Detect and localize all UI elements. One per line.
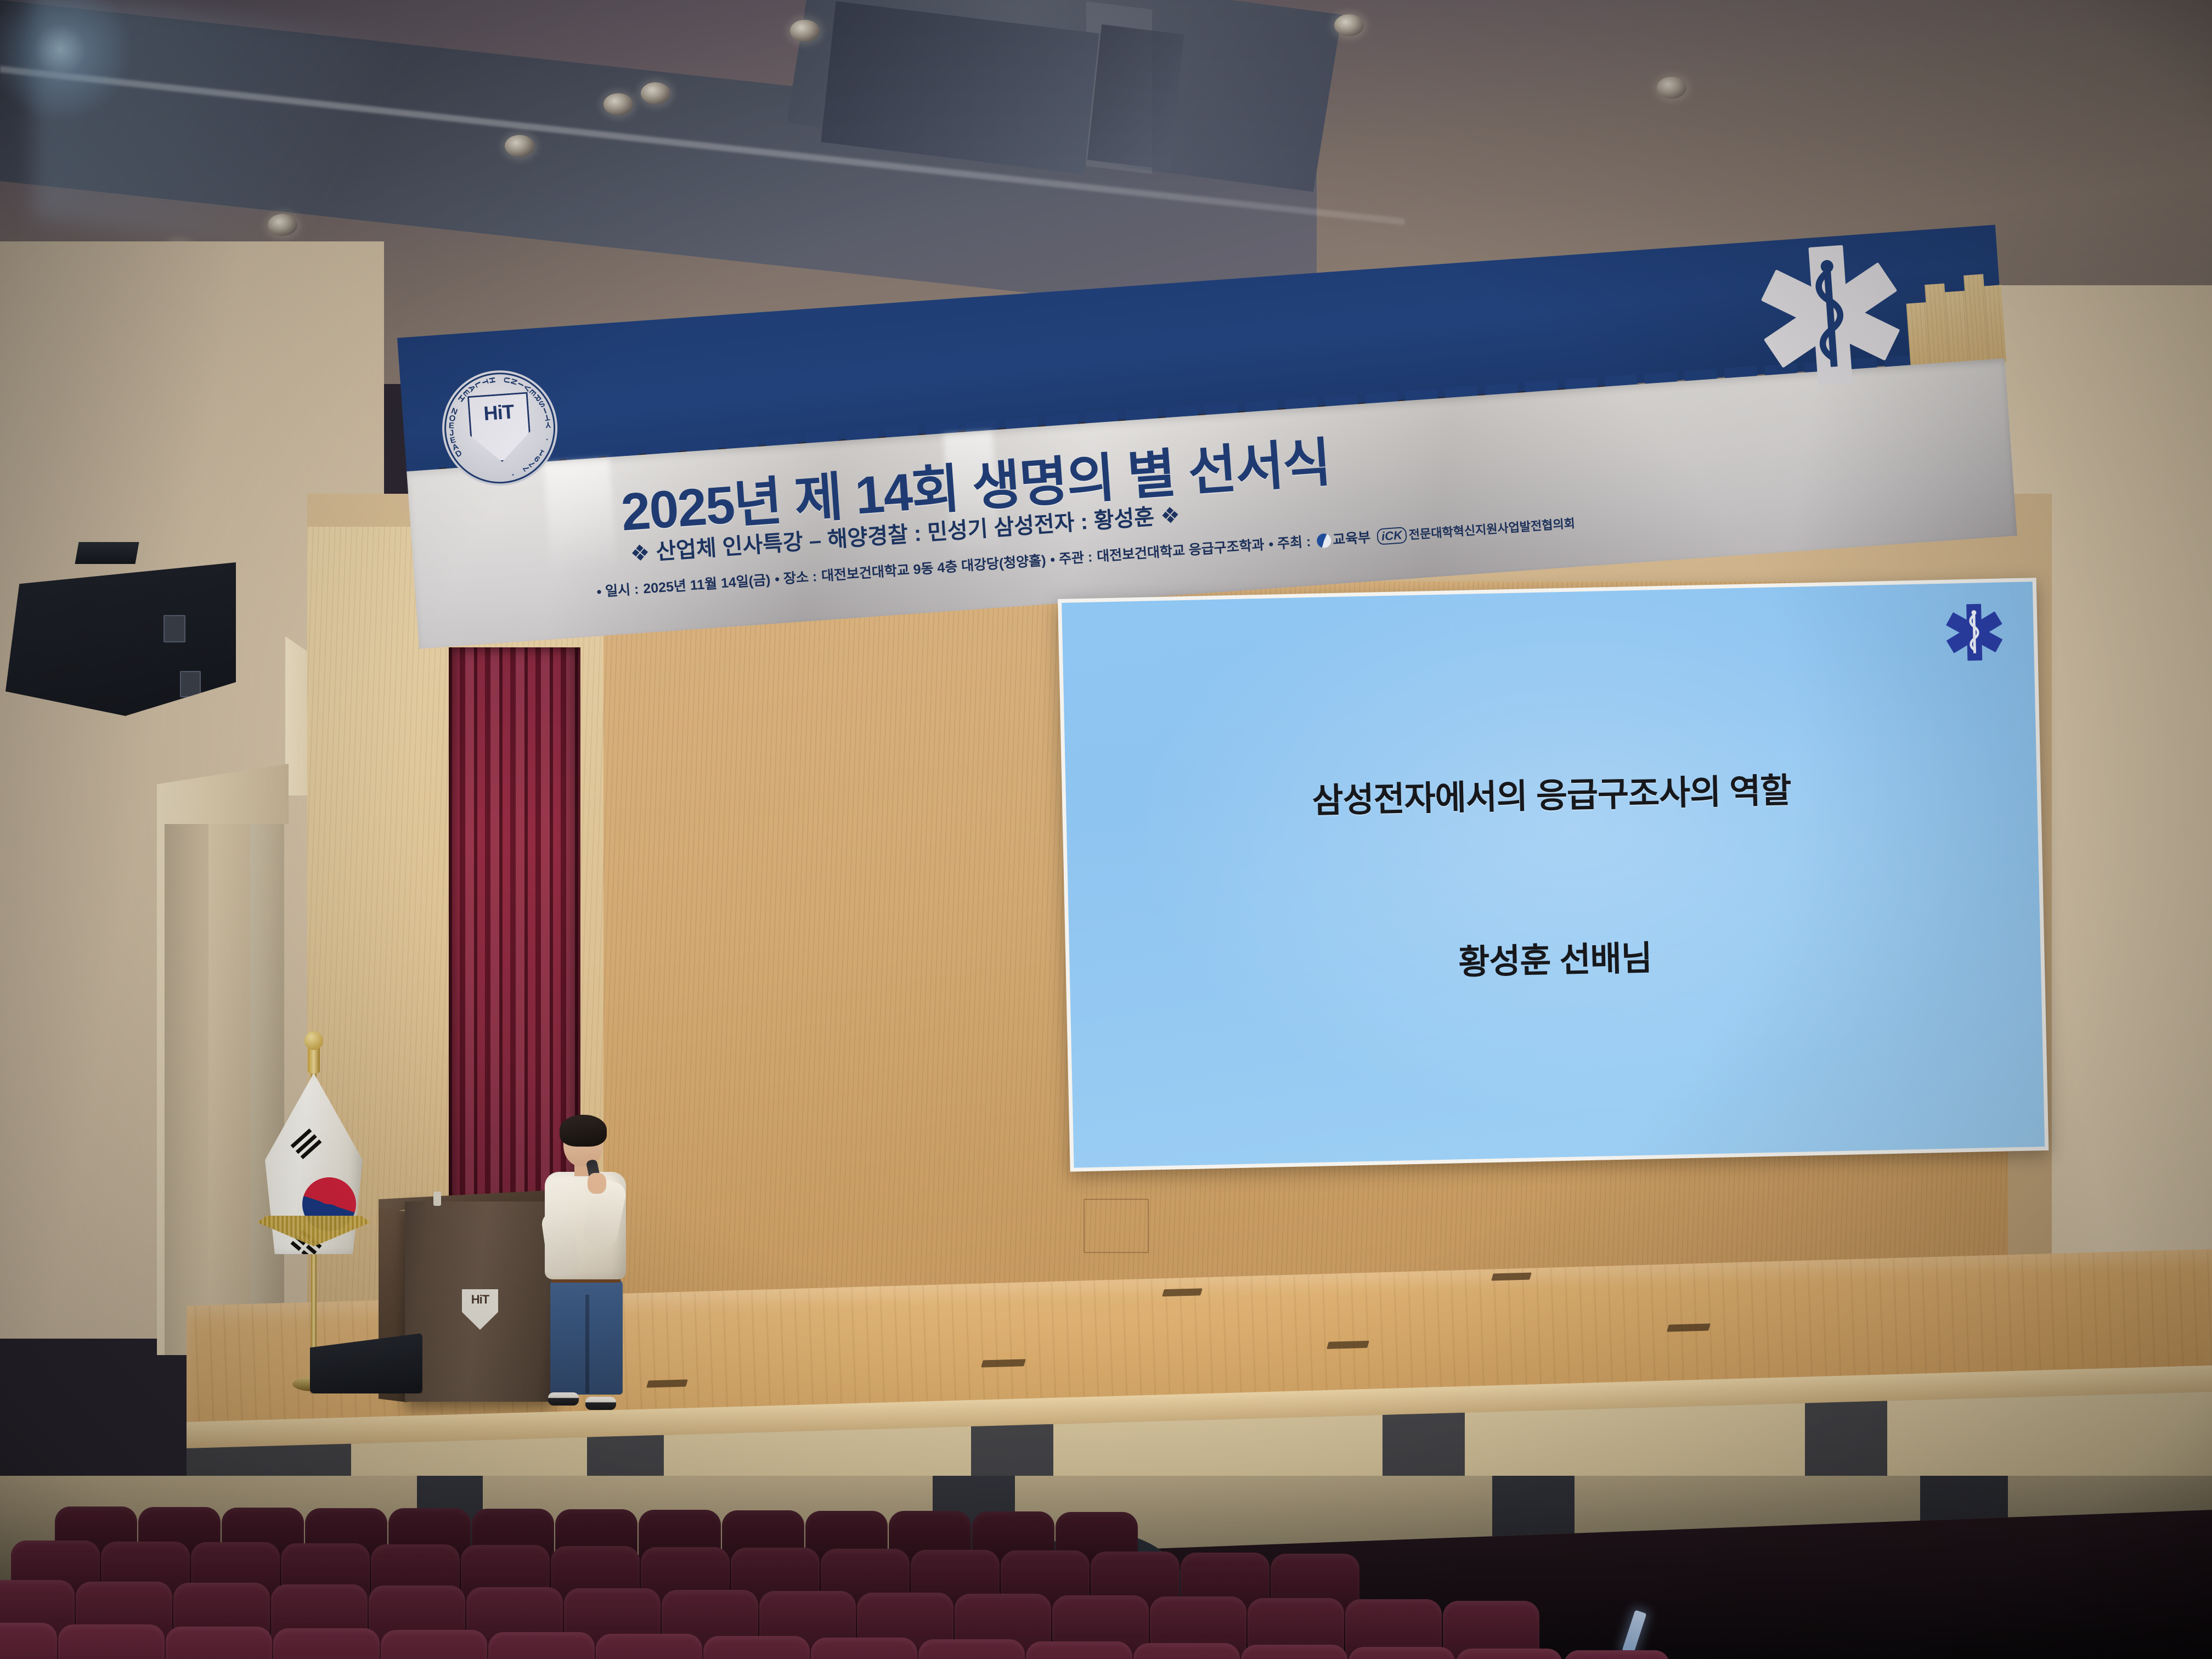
flag-finial [304,1031,323,1050]
auditorium-seat[interactable] [0,1623,57,1659]
auditorium-seat[interactable] [703,1636,810,1659]
ceiling-downlight-icon [1334,14,1364,36]
auditorium-seat[interactable] [811,1638,917,1659]
ceiling-downlight-icon [505,135,534,157]
presenter-leg-seam [585,1295,589,1393]
ministry-of-education-logo-icon [1316,533,1331,549]
banner-place-label: • 장소 : [774,569,817,587]
presenter-hand [588,1173,606,1194]
emblem-ring-char: Y [545,420,551,430]
presenter-hair [560,1115,607,1147]
banner-date-label: • 일시 : [596,582,640,600]
podium-microphone-icon [433,1192,441,1206]
auditorium-seat[interactable] [596,1634,702,1659]
auditorium-seat[interactable] [273,1628,380,1659]
emblem-ring-char: · [544,435,549,444]
screen-glow [1062,582,2045,1167]
stage-floor-slot [1162,1288,1203,1296]
wall-access-panel [1084,1199,1149,1253]
pilaster-shadow [165,806,208,1355]
ceiling-downlight-icon [641,82,670,104]
projection-screen: 삼성전자에서의 응급구조사의 역할 황성훈 선배님 [1062,582,2045,1167]
pa-speaker-handle [163,615,185,642]
star-of-life-icon [1943,601,2006,663]
auditorium-seat[interactable] [166,1627,272,1659]
auditorium-seat[interactable] [1133,1643,1240,1659]
house-wall-pilaster [1492,1476,1575,1536]
emblem-ring-char: H [487,376,497,384]
stage-floor-slot [1327,1341,1369,1349]
emblem-ring-char: 7 [521,464,532,473]
university-emblem: DAEJEON HEALTH UNIVERSITY · 1977 · HiT [438,366,561,489]
auditorium-seat[interactable] [1026,1641,1132,1659]
auditorium-seat[interactable] [1348,1647,1455,1659]
stage-floor-slot [1667,1323,1711,1331]
banner-org-label: • 주최 : [1268,534,1312,552]
banner-scallop-edge [1901,225,2006,369]
banner-host-label: • 주관 : [1050,550,1093,568]
auditorium-seat[interactable] [918,1639,1025,1659]
flag-cap [308,1047,320,1073]
stage-floor-slot [1491,1273,1532,1281]
ceiling-downlight-icon [1657,77,1686,99]
presenter [535,1119,634,1404]
projection-screen-frame: 삼성전자에서의 응급구조사의 역할 황성훈 선배님 [1058,578,2049,1172]
auditorium-seat[interactable] [1456,1649,1562,1659]
ceiling-vent-panel-2 [1087,24,1184,170]
star-of-life-icon [1754,238,1908,392]
stage-floor-slot [646,1379,688,1387]
auditorium-photo: DAEJEON HEALTH UNIVERSITY · 1977 · HiT 2… [0,0,2212,1659]
auditorium-seat[interactable] [58,1624,165,1659]
emblem-ring-char: · [508,472,518,477]
presenter-shoe [548,1392,579,1406]
ceiling-downlight-icon [603,93,633,115]
ceiling-downlight-icon [268,214,297,236]
emblem-shield-text: HiT [483,400,515,425]
presenter-shoe [585,1397,616,1410]
pa-speaker-handle [180,671,201,697]
trigram-geon [291,1128,322,1159]
ceiling-downlight-icon [790,20,820,42]
auditorium-seat[interactable] [488,1632,595,1659]
banner-org-moe: 교육부 [1332,530,1371,548]
pa-speaker-bracket [75,542,139,564]
audience-seating [0,1476,2212,1659]
house-wall-pilaster [1920,1476,2008,1521]
auditorium-seat[interactable] [381,1630,487,1659]
ick-logo: iCK [1376,527,1407,545]
auditorium-seat[interactable] [1241,1645,1347,1659]
stage-floor-slot [981,1359,1026,1367]
auditorium-seat[interactable] [1564,1650,1670,1659]
emblem-ring-char: N [450,406,459,417]
